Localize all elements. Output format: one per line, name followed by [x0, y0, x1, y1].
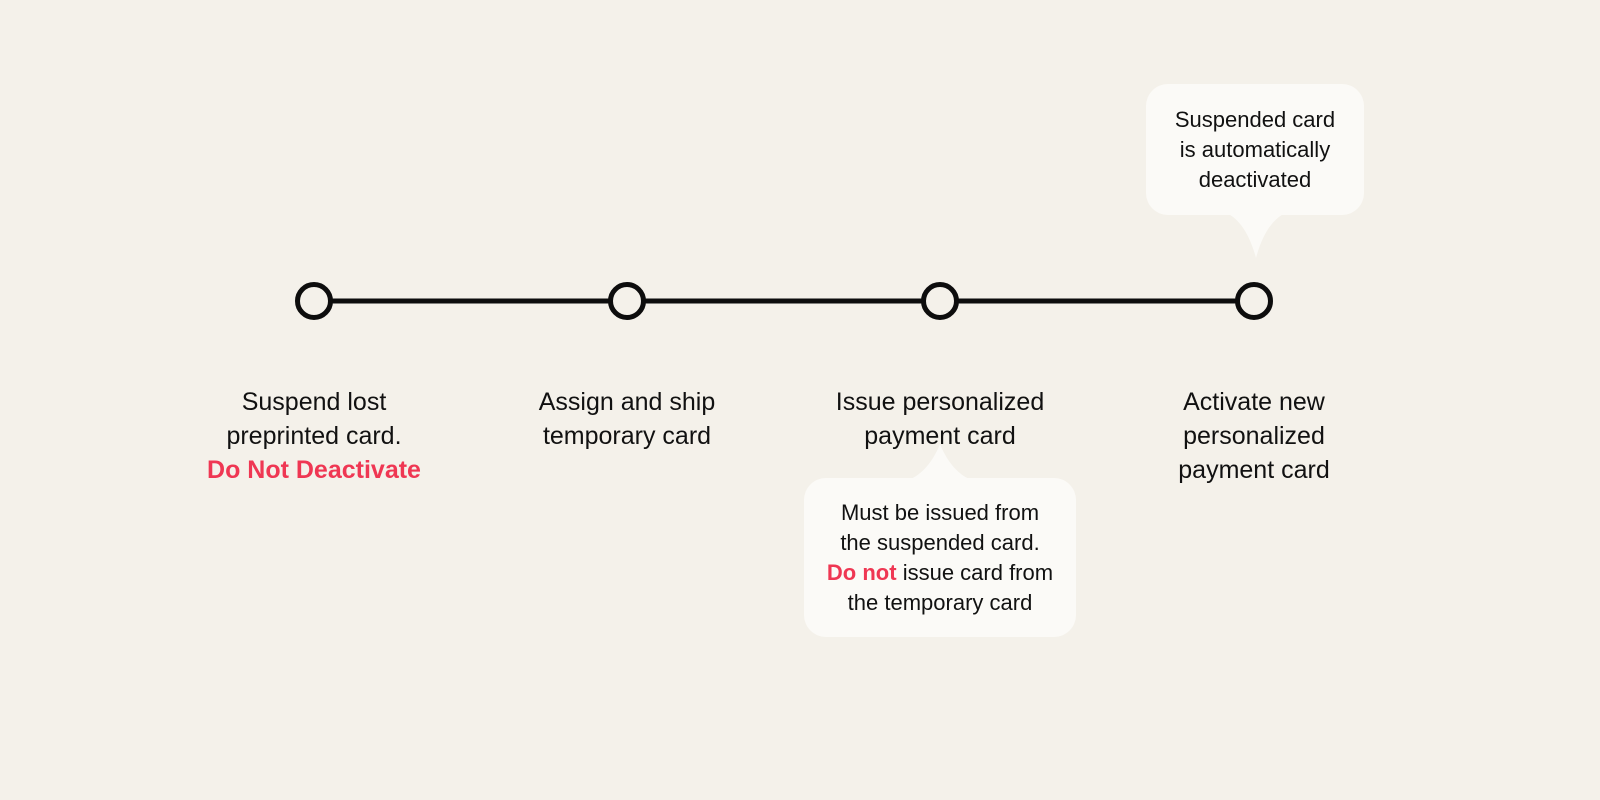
timeline-marker-3[interactable]: [924, 285, 957, 318]
timeline-step-label-4: Activate new personalized payment card: [1094, 351, 1414, 487]
step-label-text-4: Activate new personalized payment card: [1178, 388, 1329, 484]
timeline-step-label-3: Issue personalized payment card: [780, 351, 1100, 453]
timeline-marker-2[interactable]: [611, 285, 644, 318]
callout-bottom-text: Must be issued from the suspended card. …: [809, 498, 1071, 618]
callout-bottom-text-before: Must be issued from the suspended card.: [840, 500, 1039, 555]
timeline-marker-4[interactable]: [1238, 285, 1271, 318]
step-label-text-2: Assign and ship temporary card: [539, 388, 716, 450]
step-label-emphasis-1: Do Not Deactivate: [154, 453, 474, 487]
timeline-step-label-1: Suspend lost preprinted card. Do Not Dea…: [154, 351, 474, 521]
timeline-marker-1[interactable]: [298, 285, 331, 318]
callout-top-tail-icon: [1216, 210, 1296, 262]
timeline-step-label-2: Assign and ship temporary card: [467, 351, 787, 453]
callout-bottom-emphasis: Do not: [827, 560, 897, 585]
callout-issue-from-suspended-card: Must be issued from the suspended card. …: [804, 478, 1076, 637]
step-label-text-1: Suspend lost preprinted card.: [226, 388, 401, 450]
callout-bottom-tail-icon: [900, 444, 980, 482]
callout-top-text: Suspended card is automatically deactiva…: [1157, 105, 1353, 195]
step-label-text-3: Issue personalized payment card: [836, 388, 1044, 450]
diagram-canvas: Suspend lost preprinted card. Do Not Dea…: [0, 0, 1600, 800]
callout-suspended-card-deactivated: Suspended card is automatically deactiva…: [1146, 84, 1364, 215]
